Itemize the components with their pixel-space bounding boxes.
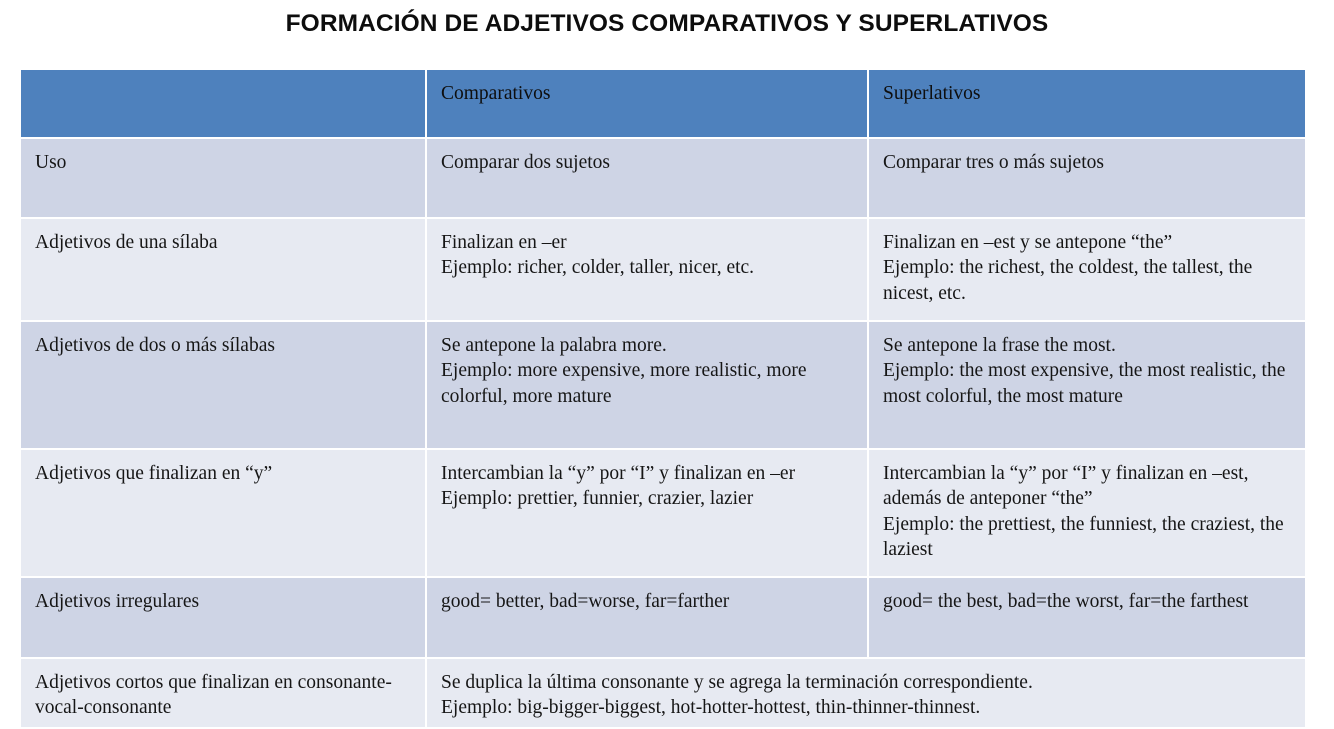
column-header-superlativos: Superlativos — [869, 70, 1305, 137]
row-label-consonante-vocal-consonante: Adjetivos cortos que finalizan en conson… — [21, 659, 425, 727]
cell-una-silaba-superlativos: Finalizan en –est y se antepone “the”Eje… — [869, 219, 1305, 320]
table-row: Adjetivos irregulares good= better, bad=… — [21, 578, 1305, 657]
row-label-finalizan-en-y: Adjetivos que finalizan en “y” — [21, 450, 425, 576]
cell-uso-comparativos: Comparar dos sujetos — [427, 139, 867, 217]
row-label-irregulares: Adjetivos irregulares — [21, 578, 425, 657]
cell-uso-superlativos: Comparar tres o más sujetos — [869, 139, 1305, 217]
cell-finalizan-en-y-comparativos: Intercambian la “y” por “I” y finalizan … — [427, 450, 867, 576]
table-row: Uso Comparar dos sujetos Comparar tres o… — [21, 139, 1305, 217]
table-body: Uso Comparar dos sujetos Comparar tres o… — [21, 139, 1305, 727]
table-row: Adjetivos de una sílaba Finalizan en –er… — [21, 219, 1305, 320]
cell-finalizan-en-y-superlativos: Intercambian la “y” por “I” y finalizan … — [869, 450, 1305, 576]
row-label-dos-o-mas-silabas: Adjetivos de dos o más sílabas — [21, 322, 425, 448]
column-header-comparativos: Comparativos — [427, 70, 867, 137]
table-row: Adjetivos cortos que finalizan en conson… — [21, 659, 1305, 727]
cell-irregulares-comparativos: good= better, bad=worse, far=farther — [427, 578, 867, 657]
cell-consonante-vocal-consonante-merged: Se duplica la última consonante y se agr… — [427, 659, 1305, 727]
column-header-blank — [21, 70, 425, 137]
table-header: Comparativos Superlativos — [21, 70, 1305, 137]
document-page: FORMACIÓN DE ADJETIVOS COMPARATIVOS Y SU… — [0, 0, 1334, 710]
page-title: FORMACIÓN DE ADJETIVOS COMPARATIVOS Y SU… — [0, 10, 1334, 38]
cell-dos-o-mas-silabas-superlativos: Se antepone la frase the most.Ejemplo: t… — [869, 322, 1305, 448]
row-label-una-silaba: Adjetivos de una sílaba — [21, 219, 425, 320]
table-row: Adjetivos de dos o más sílabas Se antepo… — [21, 322, 1305, 448]
cell-una-silaba-comparativos: Finalizan en –erEjemplo: richer, colder,… — [427, 219, 867, 320]
table-row: Adjetivos que finalizan en “y” Intercamb… — [21, 450, 1305, 576]
cell-dos-o-mas-silabas-comparativos: Se antepone la palabra more.Ejemplo: mor… — [427, 322, 867, 448]
row-label-uso: Uso — [21, 139, 425, 217]
cell-irregulares-superlativos: good= the best, bad=the worst, far=the f… — [869, 578, 1305, 657]
comparatives-superlatives-table: Comparativos Superlativos Uso Comparar d… — [19, 68, 1307, 729]
comparatives-superlatives-table-wrapper: Comparativos Superlativos Uso Comparar d… — [19, 68, 1305, 729]
table-header-row: Comparativos Superlativos — [21, 70, 1305, 137]
